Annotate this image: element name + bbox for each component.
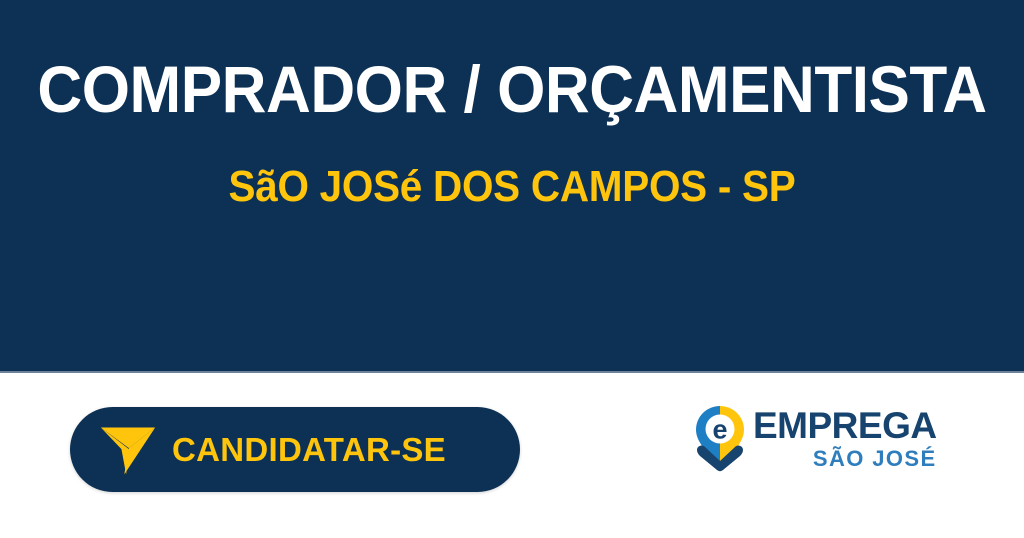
map-pin-e-icon: e <box>693 404 747 472</box>
hero-banner: COMPRADOR / ORÇAMENTISTA SãO JOSé DOS CA… <box>0 0 1024 373</box>
job-location: SãO JOSé DOS CAMPOS - SP <box>41 165 983 209</box>
apply-button[interactable]: CANDIDATAR-SE <box>70 407 520 492</box>
brand-logo[interactable]: e EMPREGA SÃO JOSÉ <box>693 400 923 476</box>
job-posting-card: COMPRADOR / ORÇAMENTISTA SãO JOSé DOS CA… <box>0 0 1024 538</box>
svg-text:e: e <box>712 415 727 445</box>
brand-city: SÃO JOSÉ <box>813 448 937 470</box>
brand-name: EMPREGA <box>753 407 937 444</box>
send-paper-plane-icon <box>98 420 158 480</box>
page-title: COMPRADOR / ORÇAMENTISTA <box>31 56 994 122</box>
apply-button-label: CANDIDATAR-SE <box>172 433 446 466</box>
brand-wordmark: EMPREGA SÃO JOSÉ <box>753 407 937 470</box>
footer-bar: CANDIDATAR-SE e EMPREGA SÃO JOSÉ <box>0 373 1024 538</box>
